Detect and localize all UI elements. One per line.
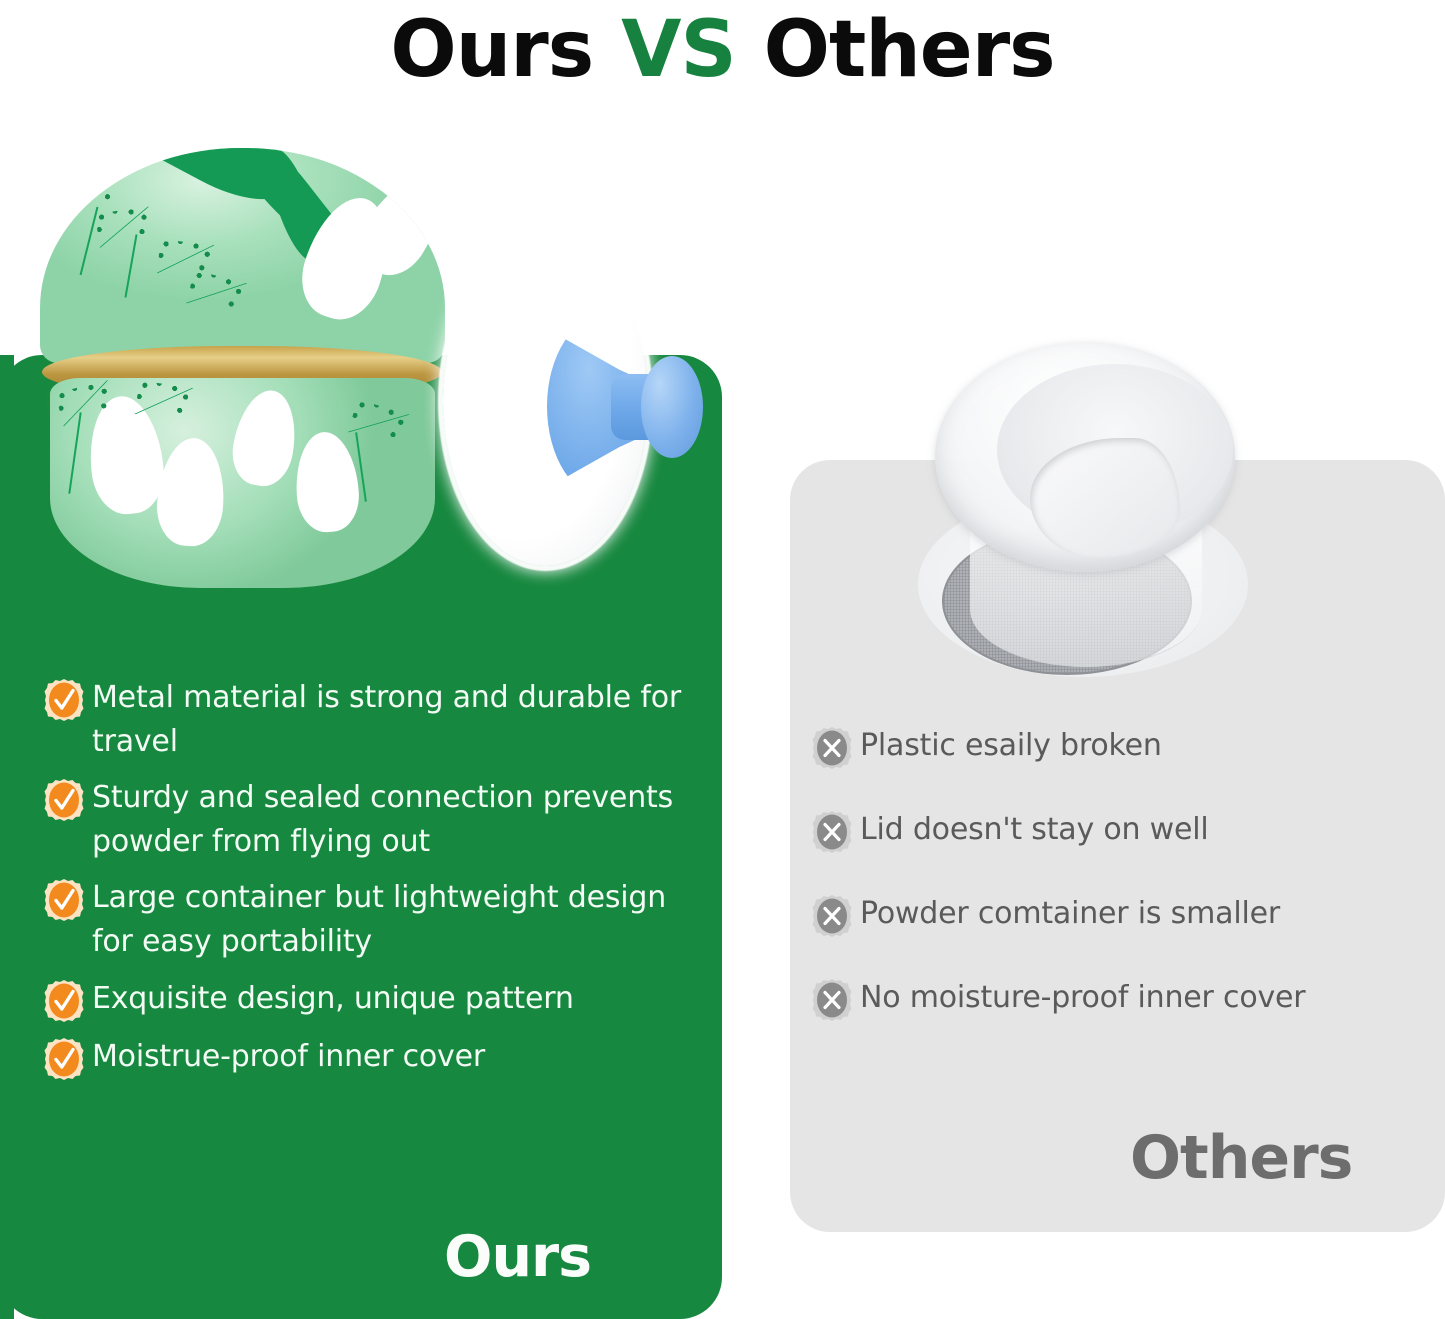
cross-badge-icon (812, 810, 852, 854)
list-item: Large container but lightweight design f… (44, 876, 684, 964)
tin-tulip-decor (227, 386, 303, 491)
list-item: No moisture-proof inner cover (812, 976, 1422, 1022)
cross-badge-icon (812, 894, 852, 938)
check-badge-icon (44, 678, 84, 722)
list-item-label: Plastic esaily broken (860, 724, 1162, 768)
list-item-label: Powder comtainer is smaller (860, 892, 1280, 936)
list-item: Lid doesn't stay on well (812, 808, 1422, 854)
title-others-word: Others (764, 11, 1055, 89)
list-item: Powder comtainer is smaller (812, 892, 1422, 938)
list-item: Exquisite design, unique pattern (44, 977, 684, 1023)
list-item-label: Moistrue-proof inner cover (92, 1035, 485, 1079)
comparison-title: Ours VS Others (0, 0, 1445, 100)
others-drawback-list: Plastic esaily broken Lid doesn't stay o… (812, 724, 1422, 1060)
list-item: Sturdy and sealed connection prevents po… (44, 776, 684, 864)
green-floral-metal-powder-tin-image (40, 148, 445, 588)
clear-plastic-powder-container-image (900, 342, 1270, 682)
tin-dandelion-decor (183, 270, 247, 328)
title-vs-word: VS (621, 11, 736, 89)
puff-handle-knob (641, 356, 703, 458)
check-badge-icon (44, 878, 84, 922)
list-item-label: Lid doesn't stay on well (860, 808, 1209, 852)
tin-dandelion-decor (95, 206, 155, 259)
cross-badge-icon (812, 726, 852, 770)
list-item-label: Exquisite design, unique pattern (92, 977, 574, 1021)
ours-benefit-list: Metal material is strong and durable for… (44, 676, 684, 1093)
list-item-label: Sturdy and sealed connection prevents po… (92, 776, 684, 864)
ours-footer-label: Ours (444, 1229, 591, 1286)
check-badge-icon (44, 1037, 84, 1081)
list-item-label: Large container but lightweight design f… (92, 876, 684, 964)
tin-tulip-decor (154, 436, 227, 548)
check-badge-icon (44, 979, 84, 1023)
cross-badge-icon (812, 978, 852, 1022)
white-powder-puff-image (443, 236, 693, 584)
tin-dandelion-decor (345, 399, 410, 458)
title-ours-word: Ours (390, 11, 593, 89)
check-badge-icon (44, 778, 84, 822)
list-item-label: No moisture-proof inner cover (860, 976, 1305, 1020)
list-item: Plastic esaily broken (812, 724, 1422, 770)
list-item-label: Metal material is strong and durable for… (92, 676, 684, 764)
tin-lid (40, 148, 445, 363)
others-footer-label: Others (1130, 1128, 1352, 1188)
tin-dandelion-decor (133, 380, 193, 433)
list-item: Metal material is strong and durable for… (44, 676, 684, 764)
tin-body (50, 378, 435, 588)
list-item: Moistrue-proof inner cover (44, 1035, 684, 1081)
